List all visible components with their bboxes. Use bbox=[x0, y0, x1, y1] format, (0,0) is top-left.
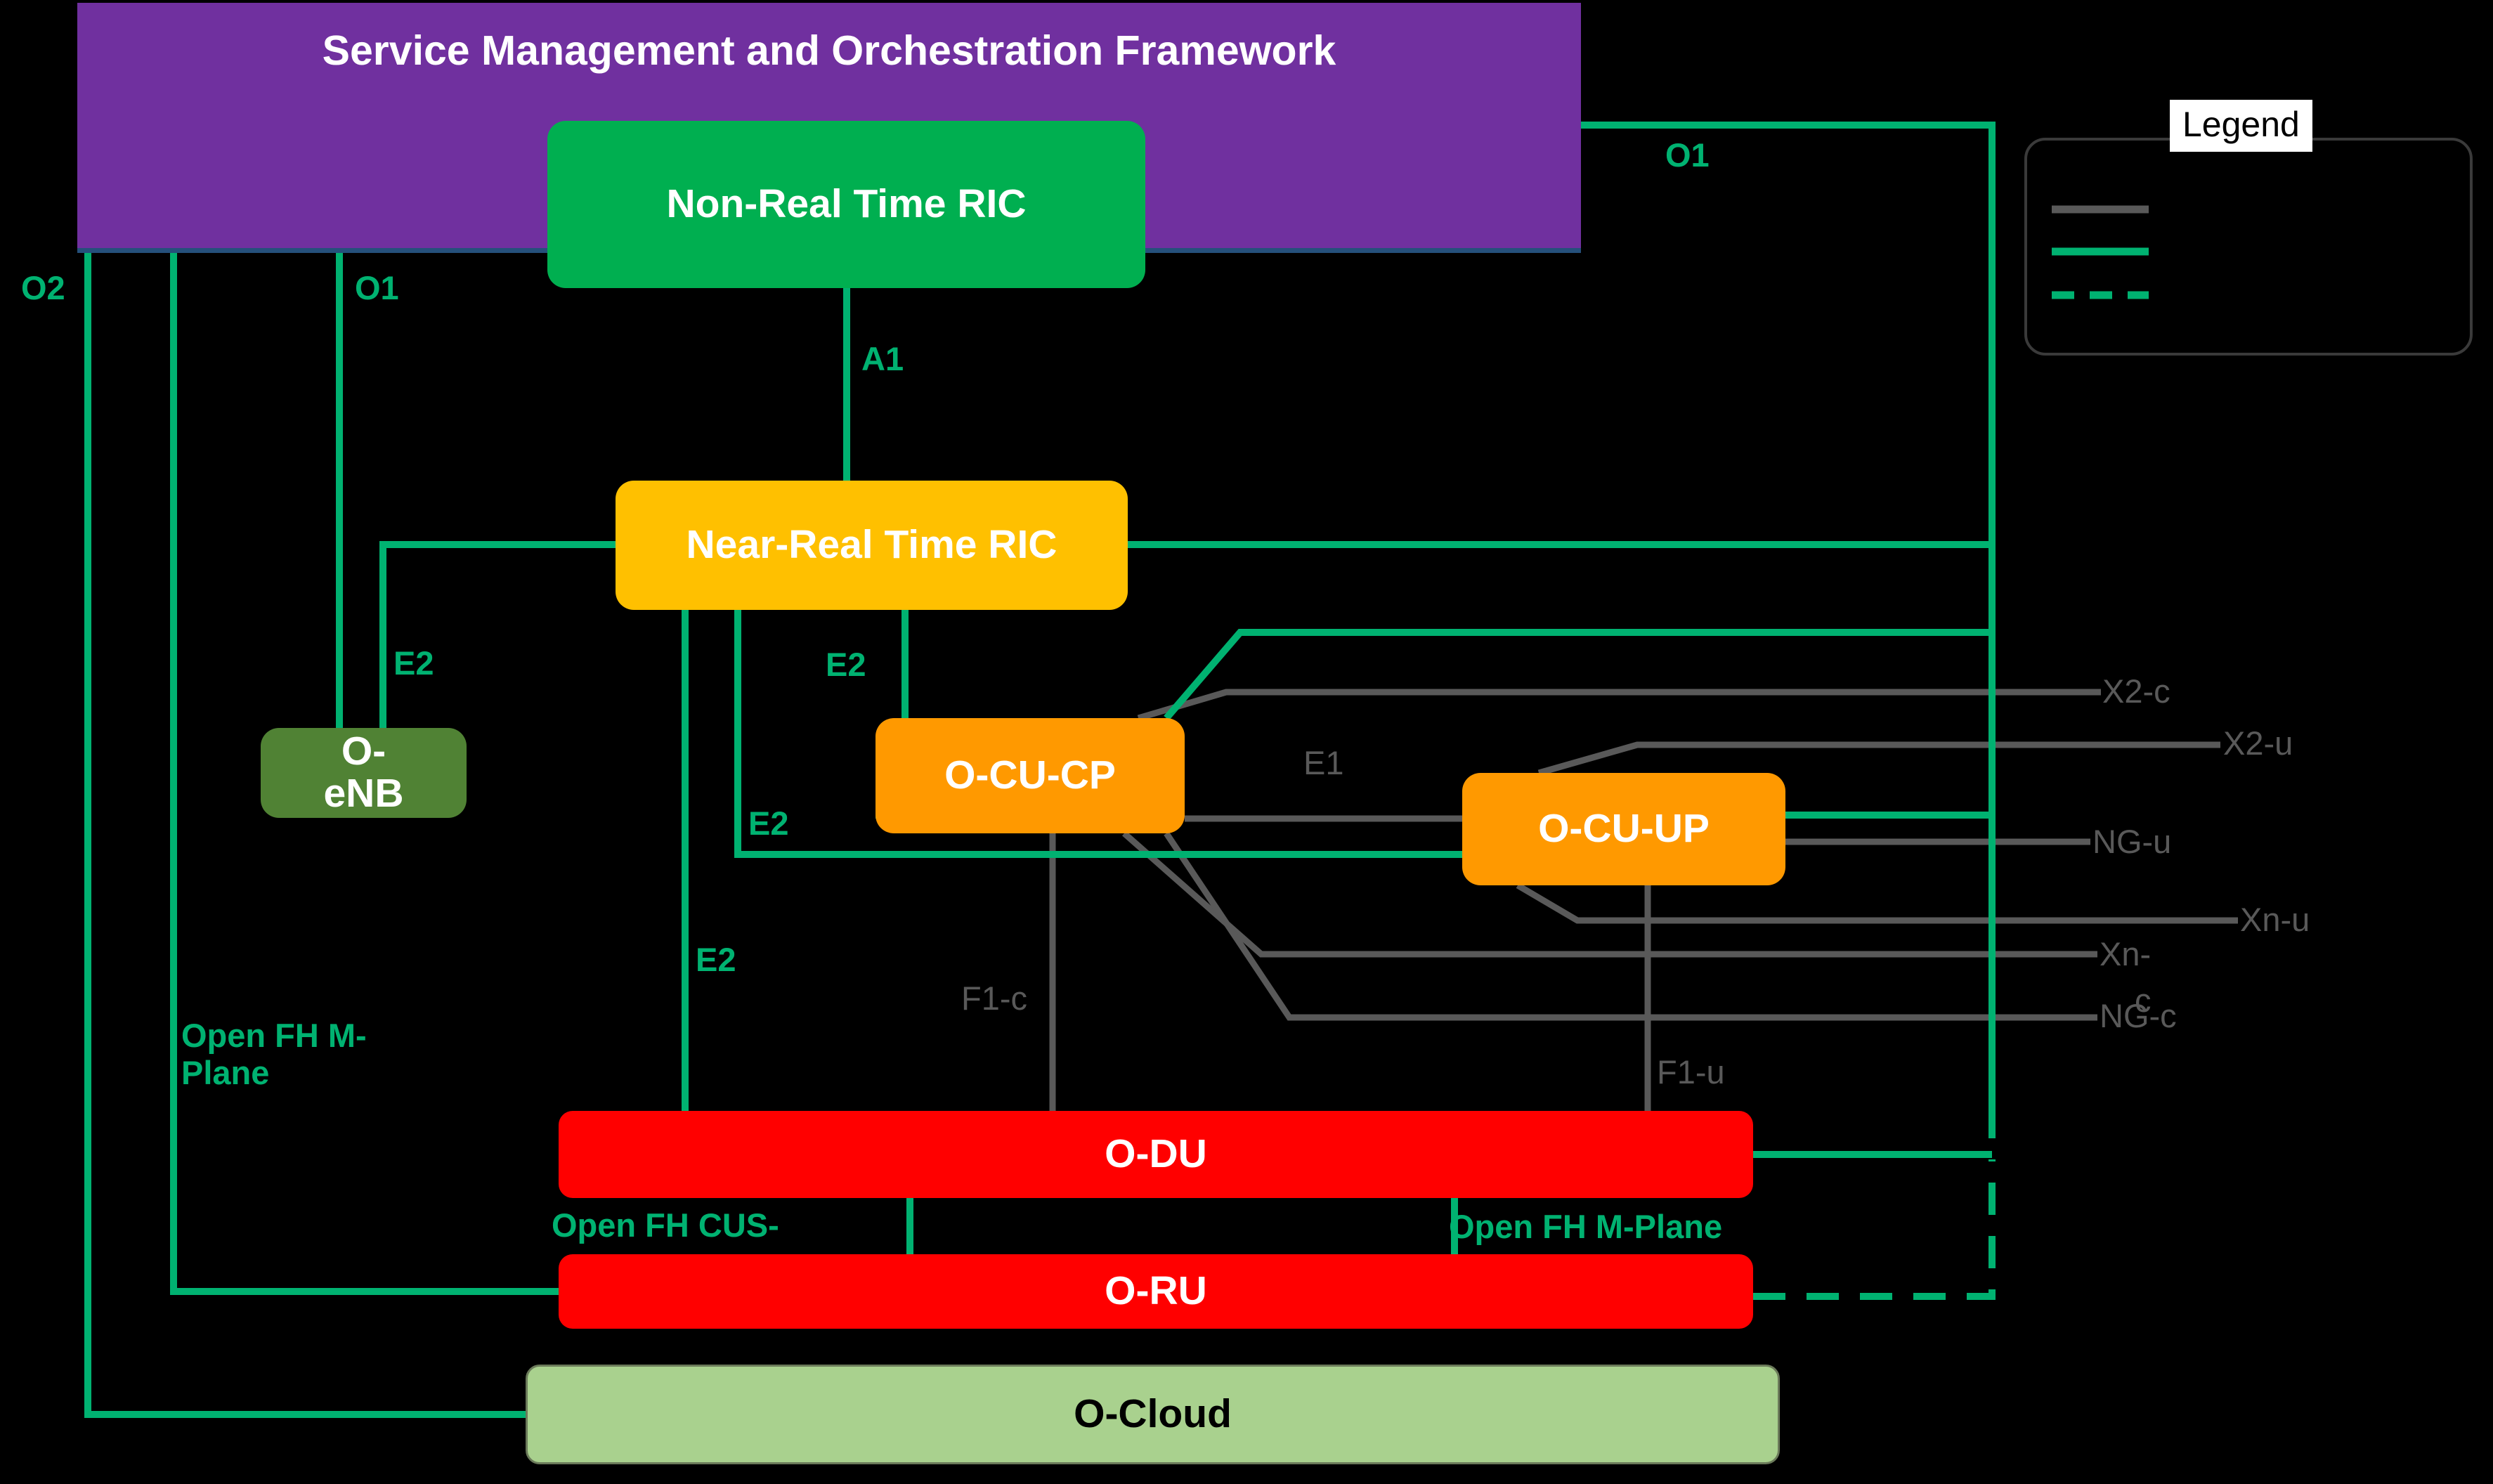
label-o1-left: O1 bbox=[355, 270, 399, 307]
label-open-fh-mplane-right: Open FH M-Plane bbox=[1449, 1209, 1722, 1246]
green-dashed-links bbox=[1753, 1159, 1992, 1296]
node-o-cloud-label: O-Cloud bbox=[1074, 1393, 1232, 1436]
label-f1c: F1-c bbox=[961, 980, 1027, 1017]
label-open-fh-mplane-left: Open FH M- Plane bbox=[181, 1017, 413, 1091]
node-near-rt-ric[interactable]: Near-Real Time RIC bbox=[616, 481, 1128, 610]
label-a1: A1 bbox=[861, 341, 904, 378]
label-e2-odu: E2 bbox=[696, 942, 736, 979]
label-xn-c: Xn- bbox=[2100, 936, 2151, 973]
openfh-verticals bbox=[910, 1198, 1454, 1254]
node-o-ru-label: O-RU bbox=[1105, 1270, 1207, 1313]
label-f1u: F1-u bbox=[1657, 1054, 1725, 1091]
node-smo-label: Service Management and Orchestration Fra… bbox=[323, 30, 1336, 73]
node-o-cu-up[interactable]: O-CU-UP bbox=[1462, 773, 1785, 885]
link-x2u bbox=[1539, 745, 2220, 773]
node-o-enb-label: O-eNB bbox=[304, 731, 424, 815]
link-x2c bbox=[1138, 692, 2101, 718]
node-o-du-label: O-DU bbox=[1105, 1133, 1207, 1176]
link-cucp-to-rail bbox=[1166, 632, 1992, 718]
label-open-fh-cus: Open FH CUS- bbox=[552, 1207, 779, 1244]
node-o-cu-cp[interactable]: O-CU-CP bbox=[876, 718, 1185, 833]
label-x2-u: X2-u bbox=[2223, 725, 2293, 762]
label-e2-cucp: E2 bbox=[826, 646, 866, 684]
node-near-rt-ric-label: Near-Real Time RIC bbox=[686, 524, 1057, 566]
label-xn-c-overlap: c bbox=[2135, 982, 2152, 1020]
node-o-enb[interactable]: O-eNB bbox=[261, 728, 467, 818]
node-non-rt-ric-label: Non-Real Time RIC bbox=[666, 183, 1026, 226]
legend-title: Legend bbox=[2170, 100, 2312, 152]
label-e1: E1 bbox=[1303, 745, 1344, 782]
label-ng-u: NG-u bbox=[2092, 824, 2171, 861]
legend-panel bbox=[2024, 138, 2473, 356]
grey-links bbox=[1053, 692, 2238, 1111]
link-e2-oenb bbox=[383, 545, 616, 728]
label-e2-oenb: E2 bbox=[393, 645, 434, 682]
label-o1-right: O1 bbox=[1665, 137, 1710, 174]
node-non-rt-ric[interactable]: Non-Real Time RIC bbox=[547, 121, 1145, 288]
node-o-du[interactable]: O-DU bbox=[559, 1111, 1753, 1198]
label-o2: O2 bbox=[21, 270, 65, 307]
oran-architecture-diagram: Service Management and Orchestration Fra… bbox=[0, 0, 2493, 1484]
node-o-cu-up-label: O-CU-UP bbox=[1538, 808, 1710, 850]
link-oru-dashed bbox=[1753, 1159, 1992, 1296]
link-o2 bbox=[88, 253, 526, 1414]
label-x2-c: X2-c bbox=[2102, 673, 2170, 710]
node-o-ru[interactable]: O-RU bbox=[559, 1254, 1753, 1329]
label-xn-u: Xn-u bbox=[2240, 902, 2310, 939]
label-e2-mid: E2 bbox=[748, 805, 789, 842]
node-o-cu-cp-label: O-CU-CP bbox=[944, 755, 1116, 797]
node-o-cloud[interactable]: O-Cloud bbox=[526, 1365, 1780, 1464]
link-xnu bbox=[1518, 885, 2238, 920]
